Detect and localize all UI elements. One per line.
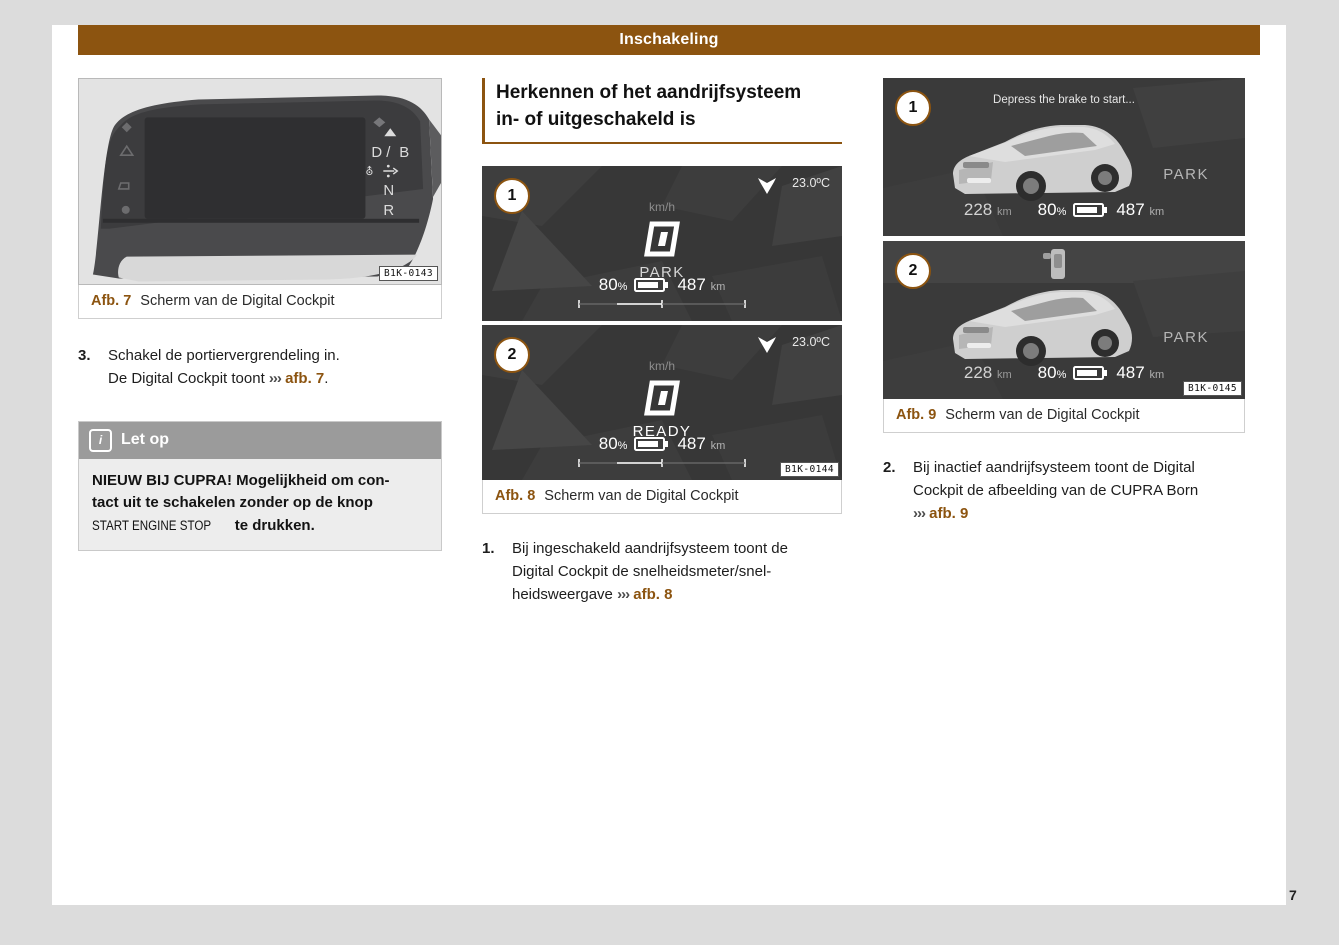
figure-8-frame: 1 23.0ºC km/h PARK 80% [482, 166, 842, 480]
page-header-bar: Inschakeling [78, 25, 1260, 55]
step-2: 2. Bij inactief aandrijfsysteem toont de… [883, 457, 1245, 525]
battery-scale-1 [482, 299, 842, 309]
step-3-period: . [324, 370, 328, 387]
figure-8-caption: Afb. 8 Scherm van de Digital Cockpit [482, 480, 842, 514]
note-line-2: tact uit te schakelen zonder op de knop [92, 494, 373, 511]
step-2-line-2: Cockpit de afbeelding van de CUPRA Born [913, 482, 1198, 499]
start-engine-stop-button-label: START ENGINE STOP [92, 516, 211, 536]
figure-7-code: B1K-0143 [379, 266, 438, 281]
battery-percent-1: 80% [1038, 200, 1067, 220]
temperature-readout-2: 23.0ºC [792, 335, 830, 349]
battery-percent-2: 80% [599, 434, 628, 454]
battery-row-2: 80% 487 km [482, 434, 842, 454]
battery-icon-2 [1073, 365, 1109, 381]
range-readout-1: 487 km [677, 275, 725, 295]
step-1: 1. Bij ingeschakeld aandrijfsysteem toon… [482, 538, 842, 606]
step-3-line-1: Schakel de portiervergrendeling in. [108, 347, 340, 364]
svg-text:B: B [399, 145, 409, 161]
figure-9-code: B1K-0145 [1183, 381, 1242, 396]
figure-7-number: Afb. 7 [91, 293, 131, 309]
step-3-number: 3. [78, 345, 98, 391]
note-line-3-tail: te drukken. [235, 517, 315, 534]
step-2-line-1: Bij inactief aandrijfsysteem toont de Di… [913, 459, 1195, 476]
note-title: Let op [121, 431, 169, 449]
gear-glyph-icon-1 [482, 218, 842, 265]
figure-9-frame: 1 Depress the brake to start... PARK 228… [883, 78, 1245, 399]
figure-8-code: B1K-0144 [780, 462, 839, 477]
callout-badge-2: 2 [494, 337, 530, 373]
speed-unit-label-1: km/h [482, 200, 842, 214]
step-1-reference[interactable]: afb. 8 [633, 586, 672, 603]
figure-9-caption: Afb. 9 Scherm van de Digital Cockpit [883, 399, 1245, 433]
note-header: i Let op [79, 422, 441, 459]
battery-group-1: 80% 487 km [1038, 200, 1164, 220]
left-column: D / B ⛢ N R B1K-0143 Afb. 7 Scherm van d… [78, 78, 442, 551]
svg-text:R: R [383, 203, 394, 219]
step-1-line-1: Bij ingeschakeld aandrijfsysteem toont d… [512, 540, 788, 557]
figure-9-caption-text: Scherm van de Digital Cockpit [945, 407, 1139, 423]
page-number: 7 [1289, 887, 1297, 903]
step-3-line-2: De Digital Cockpit toont [108, 370, 265, 387]
battery-icon-1 [1073, 202, 1109, 218]
battery-group-2: 80% 487 km [1038, 363, 1164, 383]
step-2-text: Bij inactief aandrijfsysteem toont de Di… [913, 457, 1198, 525]
page-title: Inschakeling [619, 31, 718, 49]
step-1-number: 1. [482, 538, 502, 606]
figure-8-panel-2: 2 23.0ºC km/h READY 80% [482, 325, 842, 480]
gear-status-label-2: PARK [1163, 329, 1209, 346]
figure-8-caption-text: Scherm van de Digital Cockpit [544, 488, 738, 504]
step-1-text: Bij ingeschakeld aandrijfsysteem toont d… [512, 538, 788, 606]
cupra-logo-icon [756, 176, 778, 196]
battery-percent-2: 80% [1038, 363, 1067, 383]
speed-unit-label-2: km/h [482, 359, 842, 373]
step-1-line-2: Digital Cockpit de snelheidsmeter/snel- [512, 563, 771, 580]
battery-icon-2 [634, 436, 670, 452]
figure-9-number: Afb. 9 [896, 407, 936, 423]
figure-7-frame: D / B ⛢ N R B1K-0143 [78, 78, 442, 285]
trip-distance-2: 228 km [964, 363, 1012, 383]
battery-percent-1: 80% [599, 275, 628, 295]
svg-text:D: D [371, 145, 382, 161]
gear-glyph-icon-2 [482, 377, 842, 424]
digital-cockpit-illustration: D / B ⛢ N R [79, 79, 441, 284]
cupra-born-car-illustration [945, 277, 1135, 369]
cross-ref-chevron-icon: ››› [913, 505, 925, 522]
step-3: 3. Schakel de portiervergrendeling in. D… [78, 345, 442, 391]
figure-8-number: Afb. 8 [495, 488, 535, 504]
range-readout-1: 487 km [1116, 200, 1164, 220]
callout-badge-1: 1 [494, 178, 530, 214]
range-readout-2: 487 km [1116, 363, 1164, 383]
note-line-1: NIEUW BIJ CUPRA! Mogelijkheid om con- [92, 472, 390, 489]
cross-ref-chevron-icon: ››› [269, 370, 281, 387]
figure-7-caption-text: Scherm van de Digital Cockpit [140, 293, 334, 309]
figure-8-panel-1: 1 23.0ºC km/h PARK 80% [482, 166, 842, 321]
section-heading-line-2: in- of uitgeschakeld is [496, 109, 696, 130]
callout-badge-1: 1 [895, 90, 931, 126]
callout-badge-2: 2 [895, 253, 931, 289]
svg-text:⛢: ⛢ [365, 165, 373, 178]
temperature-readout-1: 23.0ºC [792, 176, 830, 190]
figure-7-caption: Afb. 7 Scherm van de Digital Cockpit [78, 285, 442, 319]
figure-9-panel-1: 1 Depress the brake to start... PARK 228… [883, 78, 1245, 236]
right-column: 1 Depress the brake to start... PARK 228… [883, 78, 1245, 525]
bottom-readout-row-2: 228 km 80% 487 km [883, 363, 1245, 383]
svg-text:N: N [383, 183, 394, 199]
step-2-number: 2. [883, 457, 903, 525]
step-3-text: Schakel de portiervergrendeling in. De D… [108, 345, 340, 391]
note-box-let-op: i Let op NIEUW BIJ CUPRA! Mogelijkheid o… [78, 421, 442, 552]
figure-9-panel-2: 2 PARK 228 km [883, 241, 1245, 399]
page-root: 7 Inschakeling D [0, 0, 1339, 945]
cupra-born-car-illustration [945, 112, 1135, 204]
section-heading: Herkennen of het aandrijfsysteem in- of … [482, 78, 842, 144]
bottom-readout-row-1: 228 km 80% 487 km [883, 200, 1245, 220]
section-heading-line-1: Herkennen of het aandrijfsysteem [496, 82, 801, 103]
trip-distance-1: 228 km [964, 200, 1012, 220]
note-body: NIEUW BIJ CUPRA! Mogelijkheid om con- ta… [79, 459, 441, 551]
step-2-reference[interactable]: afb. 9 [929, 505, 968, 522]
middle-column: Herkennen of het aandrijfsysteem in- of … [482, 78, 842, 606]
battery-row-1: 80% 487 km [482, 275, 842, 295]
brake-prompt-message: Depress the brake to start... [883, 94, 1245, 106]
cupra-logo-icon [756, 335, 778, 355]
step-1-line-3: heidsweergave [512, 586, 613, 603]
cross-ref-chevron-icon: ››› [617, 586, 629, 603]
range-readout-2: 487 km [677, 434, 725, 454]
gear-status-label-1: PARK [1163, 166, 1209, 183]
info-icon: i [89, 429, 112, 452]
step-3-reference[interactable]: afb. 7 [285, 370, 324, 387]
battery-icon-1 [634, 277, 670, 293]
